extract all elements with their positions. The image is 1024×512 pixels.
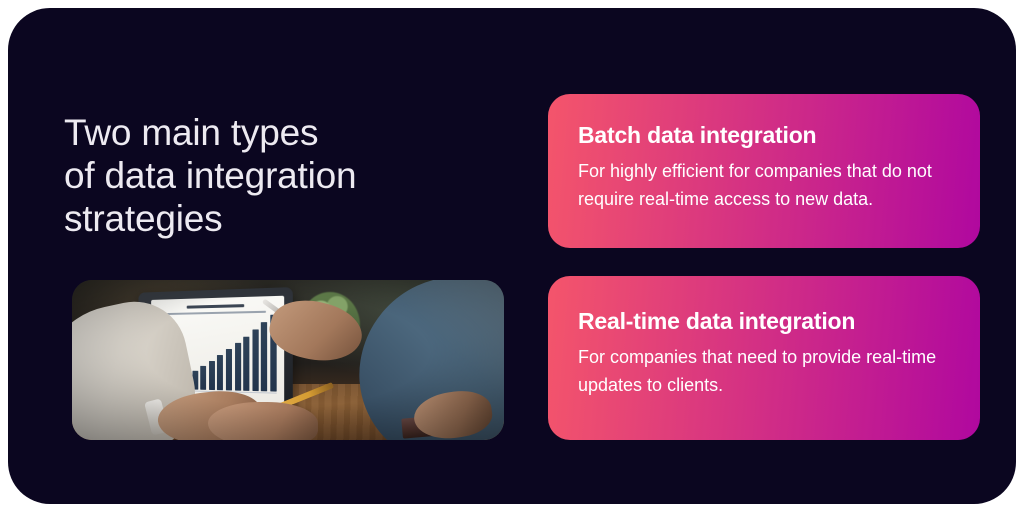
card-body: For companies that need to provide real-…: [578, 335, 950, 400]
card-title: Batch data integration: [578, 94, 950, 149]
card-batch-data-integration[interactable]: Batch data integration For highly effici…: [548, 94, 980, 248]
card-body: For highly efficient for companies that …: [578, 149, 950, 214]
infographic-canvas: Two main types of data integration strat…: [0, 0, 1024, 512]
card-real-time-data-integration[interactable]: Real-time data integration For companies…: [548, 276, 980, 440]
card-title: Real-time data integration: [578, 276, 950, 335]
meeting-photo: [72, 280, 504, 440]
page-title: Two main types of data integration strat…: [64, 111, 524, 241]
photo-vignette: [72, 280, 504, 440]
dark-panel: Two main types of data integration strat…: [8, 8, 1016, 504]
